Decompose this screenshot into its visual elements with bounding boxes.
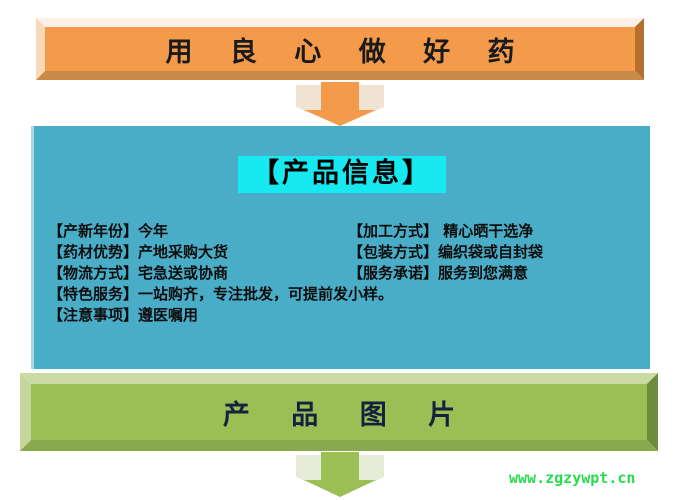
image-banner-bevel-right xyxy=(647,373,658,451)
info-cell-left: 【药材优势】产地采购大货 xyxy=(48,242,348,263)
info-row: 【物流方式】宅急送或协商 【服务承诺】服务到您满意 xyxy=(48,263,640,284)
info-row: 【产新年份】今年 【加工方式】 精心晒干选净 xyxy=(48,221,640,242)
slogan-banner: 用 良 心 做 好 药 xyxy=(36,18,644,80)
info-cell-right: 【加工方式】 精心晒干选净 xyxy=(348,221,640,242)
image-banner-inner: 产 品 图 片 xyxy=(31,384,647,440)
slogan-text: 用 良 心 做 好 药 xyxy=(152,30,529,69)
product-image-label: 产 品 图 片 xyxy=(207,393,471,432)
banner-bevel-bottom xyxy=(36,71,644,80)
image-banner-bevel-top xyxy=(20,373,658,384)
info-row: 【药材优势】产地采购大货 【包装方式】编织袋或自封袋 xyxy=(48,242,640,263)
down-arrow-green xyxy=(290,452,390,500)
down-arrow-orange-icon xyxy=(290,82,390,128)
image-banner-bevel-bottom xyxy=(20,440,658,451)
product-info-panel: 【产品信息】 【产新年份】今年 【加工方式】 精心晒干选净 【药材优势】产地采购… xyxy=(31,126,650,369)
info-cell-right: 【服务承诺】服务到您满意 xyxy=(348,263,640,284)
image-banner-bevel-left xyxy=(20,373,31,451)
info-cell-right: 【包装方式】编织袋或自封袋 xyxy=(348,242,640,263)
info-row: 【特色服务】一站购齐，专注批发，可提前发小样。 xyxy=(48,284,640,305)
poster-canvas: 用 良 心 做 好 药 【产品信息】 【产新年份】今年 【加工方式】 精心晒干选… xyxy=(0,0,680,500)
product-image-banner: 产 品 图 片 xyxy=(20,373,658,451)
info-row: 【注意事项】遵医嘱用 xyxy=(48,305,640,326)
product-info-list: 【产新年份】今年 【加工方式】 精心晒干选净 【药材优势】产地采购大货 【包装方… xyxy=(48,221,640,326)
banner-inner: 用 良 心 做 好 药 xyxy=(45,27,635,71)
info-cell-left: 【注意事项】遵医嘱用 xyxy=(48,305,640,326)
banner-bevel-right xyxy=(635,18,644,80)
info-cell-left: 【产新年份】今年 xyxy=(48,221,348,242)
info-cell-left: 【物流方式】宅急送或协商 xyxy=(48,263,348,284)
info-cell-left: 【特色服务】一站购齐，专注批发，可提前发小样。 xyxy=(48,284,640,305)
site-watermark: www.zgzywpt.cn xyxy=(509,469,635,487)
down-arrow-green-icon xyxy=(290,452,390,500)
product-info-title-row: 【产品信息】 xyxy=(34,156,650,193)
banner-bevel-top xyxy=(36,18,644,27)
product-info-title: 【产品信息】 xyxy=(238,156,446,193)
down-arrow-orange xyxy=(290,82,390,128)
banner-bevel-left xyxy=(36,18,45,80)
